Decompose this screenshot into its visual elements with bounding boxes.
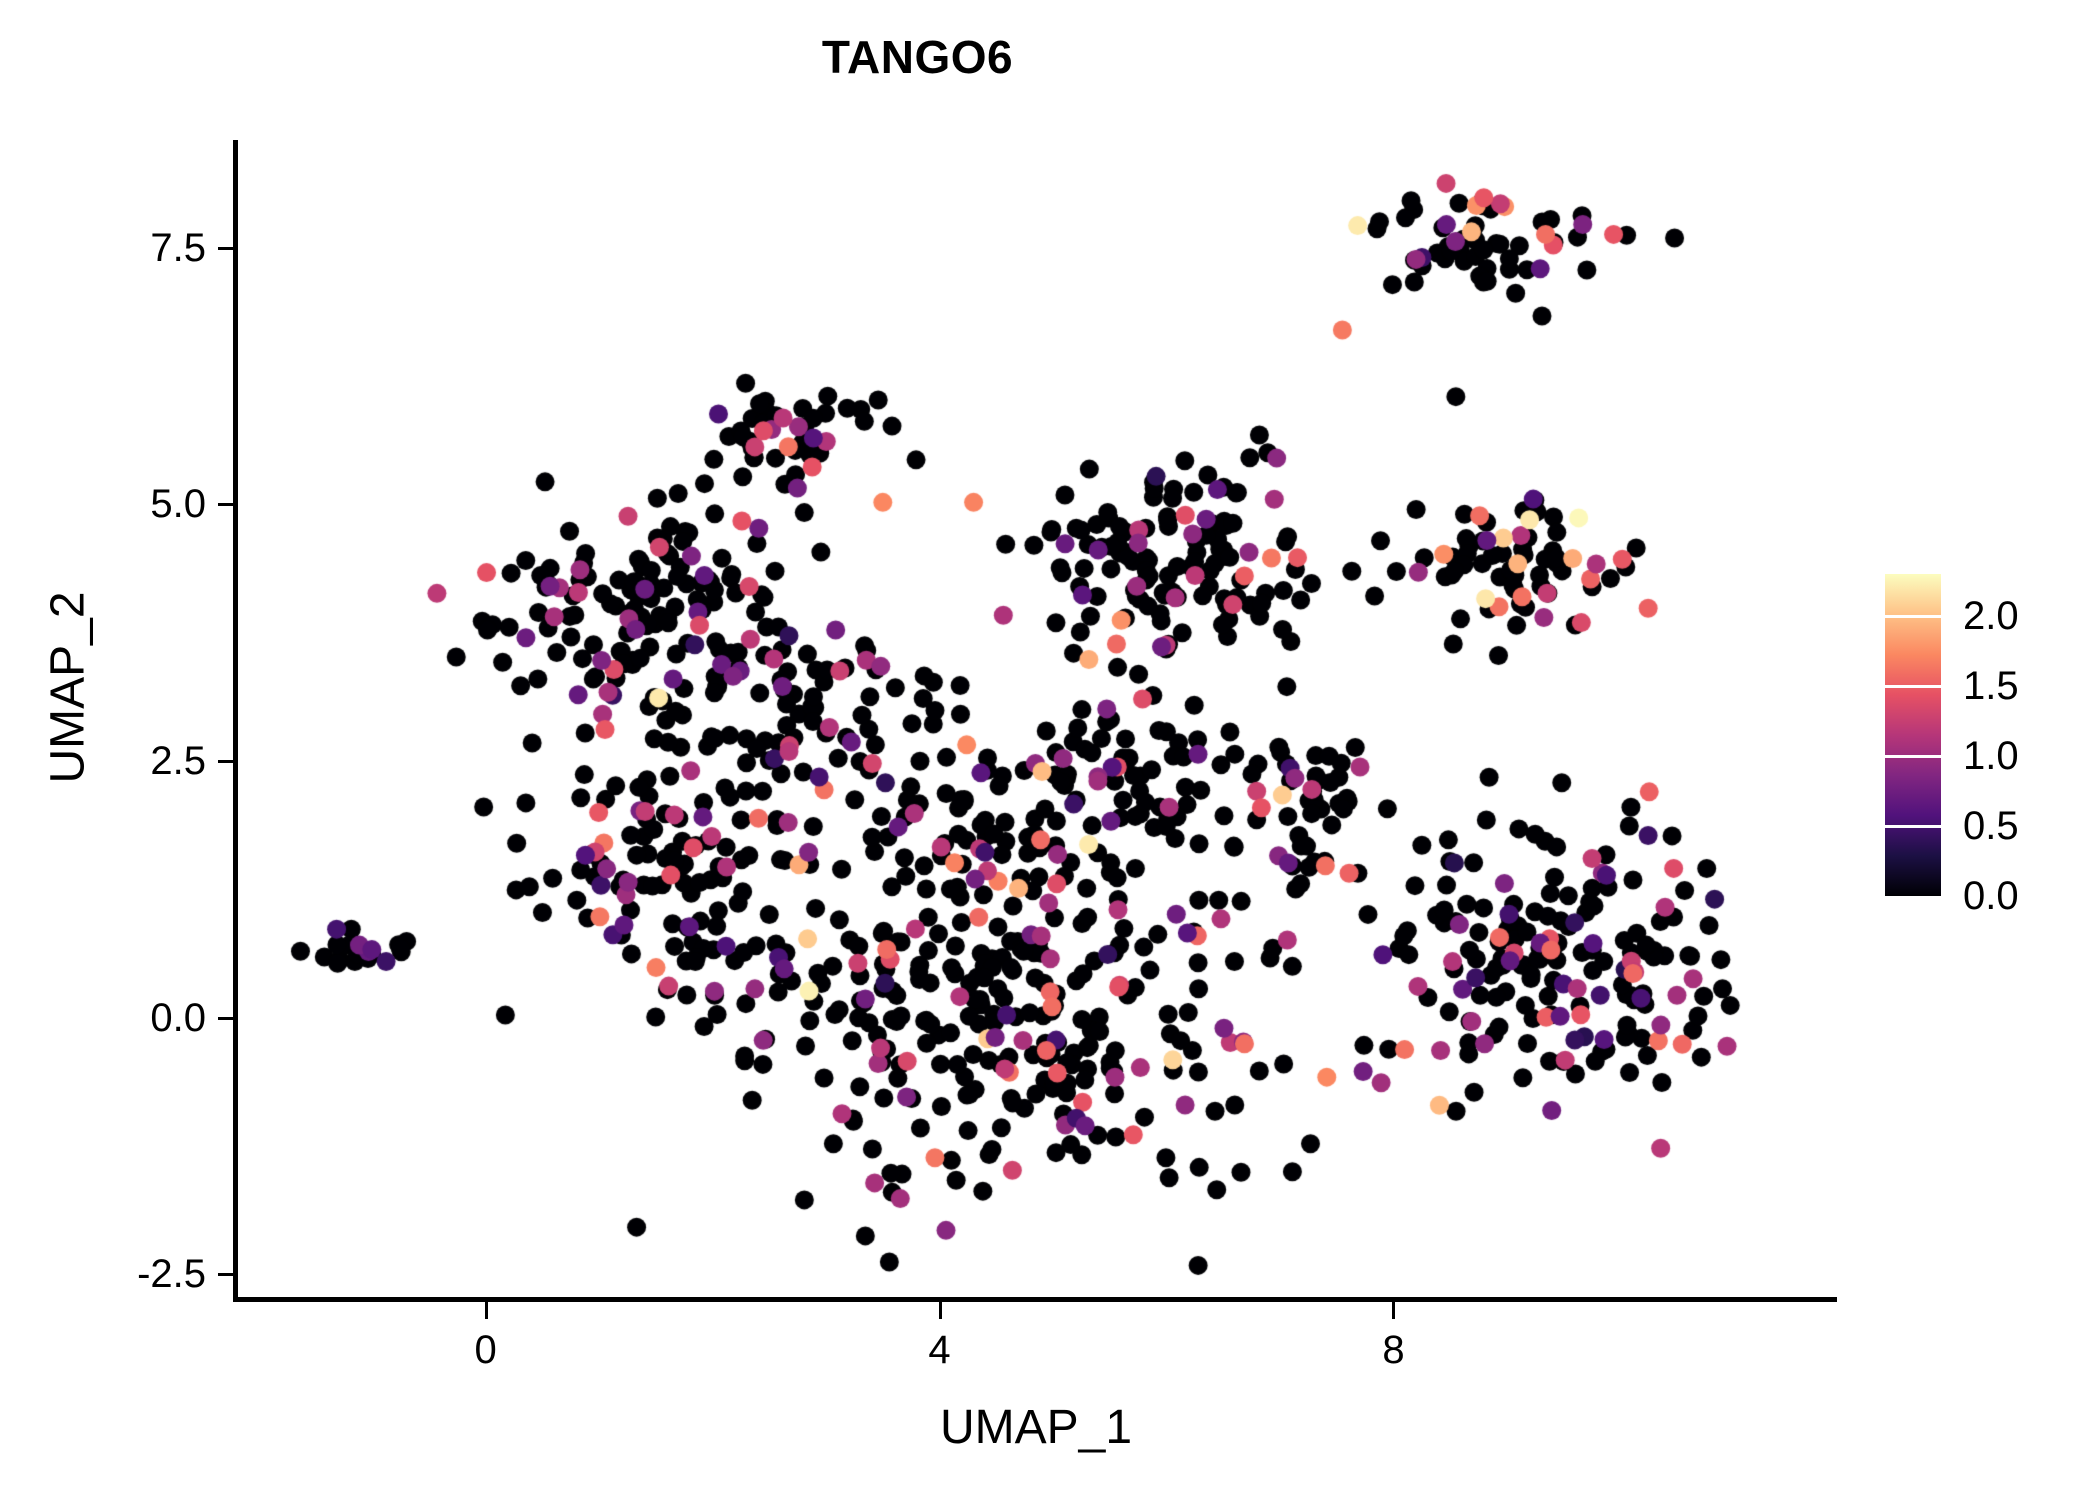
colorbar-tick-label: 0.0: [1963, 876, 2083, 916]
colorbar-tick-label: 2.0: [1963, 596, 2083, 636]
colorbar-legend: 0.00.51.01.52.0: [1885, 574, 1941, 896]
colorbar-tick-label: 1.5: [1963, 666, 2083, 706]
x-axis-tick-label: 8: [1313, 1330, 1473, 1370]
colorbar-gradient: 0.00.51.01.52.0: [1885, 574, 1941, 896]
x-axis-title: UMAP_1: [236, 1400, 1836, 1455]
colorbar-tick: [1885, 893, 1941, 896]
colorbar-tick: [1885, 615, 1941, 618]
x-axis-tick-label: 4: [860, 1330, 1020, 1370]
y-axis-tick: [218, 503, 235, 506]
y-axis-title: UMAP_2: [41, 408, 96, 968]
x-axis-tick-label: 0: [406, 1330, 566, 1370]
y-axis-line: [233, 140, 238, 1302]
chart-root: TANGO6 -2.50.02.55.07.5 048 UMAP_2 UMAP_…: [0, 0, 2100, 1500]
page-title: TANGO6: [0, 30, 1835, 84]
colorbar-tick: [1885, 685, 1941, 688]
plot-panel: [236, 140, 1836, 1300]
y-axis-tick: [218, 1017, 235, 1020]
colorbar-tick-label: 1.0: [1963, 736, 2083, 776]
colorbar-tick: [1885, 825, 1941, 828]
x-axis-tick: [939, 1302, 942, 1319]
colorbar-tick-label: 0.5: [1963, 806, 2083, 846]
y-axis-tick-label: -2.5: [16, 1254, 206, 1294]
y-axis-tick-label: 7.5: [16, 228, 206, 268]
y-axis-tick: [218, 1273, 235, 1276]
colorbar-tick: [1885, 755, 1941, 758]
y-axis-tick: [218, 760, 235, 763]
scatter-points-layer: [236, 140, 1836, 1300]
x-axis-tick: [1392, 1302, 1395, 1319]
x-axis-tick: [485, 1302, 488, 1319]
y-axis-tick-label: 0.0: [16, 998, 206, 1038]
x-axis-line: [233, 1297, 1837, 1302]
y-axis-tick: [218, 247, 235, 250]
